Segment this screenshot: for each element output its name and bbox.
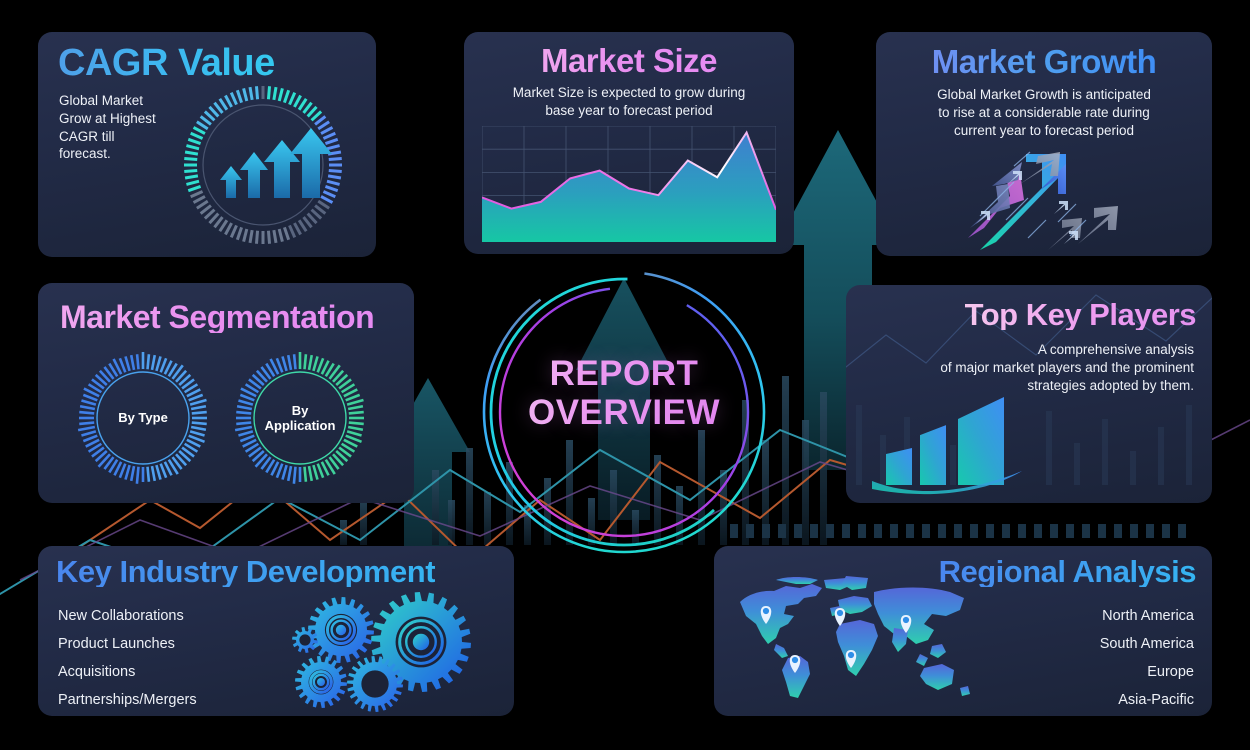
top-key-players-body: A comprehensive analysis of major market…	[866, 341, 1194, 394]
hub-title-line1: REPORT	[474, 354, 774, 393]
donut-label-line: By	[250, 404, 350, 419]
donut-label-line: Application	[250, 419, 350, 434]
market-size-title-wrap: Market Size	[464, 42, 794, 80]
list-item[interactable]: Europe	[1100, 658, 1194, 686]
donut-label-line: By Type	[93, 411, 193, 426]
growth-arrows-ring-icon	[178, 80, 348, 250]
bar-chart-icon	[872, 389, 1052, 497]
card-top-key-players[interactable]: Top Key Players A comprehensive analysis…	[846, 285, 1212, 503]
world-map-icon	[728, 572, 978, 702]
card-cagr-value[interactable]: CAGR Value Global Market Grow at Highest…	[38, 32, 376, 257]
list-item[interactable]: Partnerships/Mergers	[58, 686, 197, 714]
market-size-area-chart	[482, 126, 776, 242]
segmentation-donuts: By Type By Application	[76, 347, 376, 494]
list-item[interactable]: South America	[1100, 630, 1194, 658]
card-market-size[interactable]: Market Size Market Size is expected to g…	[464, 32, 794, 254]
donut-label-by-application: By Application	[250, 404, 350, 433]
market-growth-body: Global Market Growth is anticipated to r…	[890, 86, 1198, 139]
market-growth-title: Market Growth	[932, 45, 1157, 78]
market-growth-body-line: current year to forecast period	[890, 122, 1198, 140]
market-size-body: Market Size is expected to grow during b…	[476, 84, 782, 120]
list-item[interactable]: North America	[1100, 602, 1194, 630]
list-item[interactable]: Product Launches	[58, 630, 197, 658]
card-regional-analysis[interactable]: Regional Analysis North America South Am…	[714, 546, 1212, 716]
donut-label-by-type: By Type	[93, 411, 193, 426]
hub-title-line2: OVERVIEW	[474, 393, 774, 432]
players-body-line: of major market players and the prominen…	[866, 359, 1194, 377]
players-body-line: A comprehensive analysis	[866, 341, 1194, 359]
card-market-segmentation[interactable]: Market Segmentation By Type By Applicati…	[38, 283, 414, 503]
market-growth-body-line: to rise at a considerable rate during	[890, 104, 1198, 122]
key-industry-development-title: Key Industry Development	[56, 556, 435, 587]
cagr-title: CAGR Value	[58, 44, 275, 82]
market-size-title: Market Size	[541, 44, 717, 77]
infographic-canvas: CAGR Value Global Market Grow at Highest…	[0, 0, 1250, 750]
hub-title: REPORT OVERVIEW	[474, 354, 774, 432]
arrow-bars	[220, 128, 332, 198]
rising-arrows-icon	[962, 150, 1180, 254]
list-item[interactable]: Acquisitions	[58, 658, 197, 686]
background-tick-band	[730, 524, 1186, 538]
regional-analysis-list: North America South America Europe Asia-…	[1100, 602, 1194, 714]
list-item[interactable]: Asia-Pacific	[1100, 686, 1194, 714]
report-overview-hub[interactable]: REPORT OVERVIEW	[474, 262, 774, 562]
market-size-body-line: base year to forecast period	[476, 102, 782, 120]
market-growth-title-wrap: Market Growth	[876, 43, 1212, 81]
market-growth-body-line: Global Market Growth is anticipated	[890, 86, 1198, 104]
list-item[interactable]: New Collaborations	[58, 602, 197, 630]
map-continents	[740, 576, 970, 698]
key-industry-development-list: New Collaborations Product Launches Acqu…	[58, 602, 197, 714]
market-size-body-line: Market Size is expected to grow during	[476, 84, 782, 102]
gears-icon	[283, 590, 483, 712]
card-market-growth[interactable]: Market Growth Global Market Growth is an…	[876, 32, 1212, 256]
top-key-players-title: Top Key Players	[965, 299, 1196, 330]
market-segmentation-title: Market Segmentation	[60, 301, 374, 333]
card-key-industry-development[interactable]: Key Industry Development New Collaborati…	[38, 546, 514, 716]
